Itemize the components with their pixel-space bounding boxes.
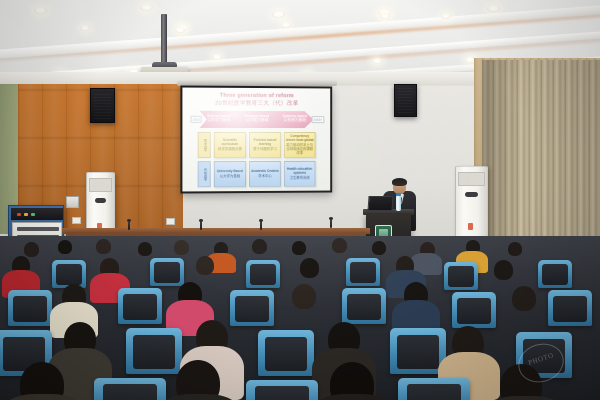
seat-cushion: [154, 262, 180, 283]
matrix-row-institutional: 机构改革 University Based 以大学为基础 Academic Ce…: [198, 161, 316, 188]
audience-head: [138, 242, 152, 256]
seat-cushion: [133, 335, 176, 369]
audience-head: [196, 256, 214, 275]
cell-text-cn: 以大学为基础: [220, 174, 240, 178]
phase-label-cn: 以科学为基础: [200, 118, 238, 123]
auditorium-seat[interactable]: [246, 260, 280, 288]
speaker-grill-icon: [94, 92, 111, 119]
lecture-hall-photo: Three generation of reform 20世纪医学教育三大（代）…: [0, 0, 600, 400]
water-bottle: [396, 196, 401, 211]
wall-outlet: [166, 218, 175, 225]
ceiling-downlight: [140, 4, 153, 11]
audience-head: [292, 241, 306, 255]
audience-head: [58, 240, 72, 254]
presentation-slide: Three generation of reform 20世纪医学教育三大（代）…: [182, 88, 330, 192]
table-microphone-head: [329, 217, 333, 220]
ceiling-downlight: [441, 13, 451, 19]
seat-cushion: [103, 384, 158, 400]
table-microphone-head: [199, 219, 203, 222]
ceiling-downlight: [272, 11, 285, 18]
auditorium-seat[interactable]: [548, 290, 592, 326]
slide-matrix: 教学改革 Scientific curriculum 科学的课程设置 Probl…: [198, 132, 316, 187]
projector-mount-pole: [161, 14, 167, 64]
auditorium-seat[interactable]: [452, 292, 496, 328]
matrix-cell: University Based 以大学为基础: [214, 161, 246, 187]
seat-cushion: [553, 296, 586, 323]
audience-head: [508, 242, 522, 256]
seat-cushion: [250, 264, 276, 285]
auditorium-seat[interactable]: [258, 330, 314, 376]
cell-text-cn: 学术中心: [258, 174, 272, 178]
cell-text-cn: 卫生教育系统: [290, 176, 310, 180]
ac-sticker: [468, 223, 473, 230]
audience-head: [292, 284, 316, 309]
seat-cushion: [457, 298, 490, 325]
wall-control-box: [66, 196, 79, 208]
matrix-cell: Competency driven local global 能力驱动的本土与全…: [284, 132, 316, 158]
seat-cushion: [347, 294, 380, 321]
seat-cushion: [56, 264, 82, 285]
cell-text-cn: 能力驱动的本土与全球相适应的课程改革: [286, 143, 314, 155]
seat-cushion: [255, 386, 310, 400]
auditorium-seat[interactable]: [444, 262, 478, 290]
cell-text-en: Health education systems: [286, 168, 314, 176]
cell-text-cn: 科学的课程设置: [218, 147, 242, 151]
projection-screen: Three generation of reform 20世纪医学教育三大（代）…: [180, 85, 332, 193]
matrix-row-instructional: 教学改革 Scientific curriculum 科学的课程设置 Probl…: [198, 132, 316, 158]
cell-text-en: Scientific curriculum: [216, 139, 244, 147]
cell-text-en: Competency driven local global: [286, 135, 314, 143]
laptop-on-podium: [367, 196, 393, 211]
ac-display-panel: [465, 192, 479, 197]
rack-led-indicator: [31, 213, 35, 216]
seat-cushion: [265, 337, 308, 371]
ceiling-downlight: [212, 54, 222, 60]
seat-cushion: [350, 262, 376, 283]
reform-timeline-arrow: 1900 2000+ Science based 以科学为基础 Problem …: [200, 111, 314, 128]
table-microphone: [200, 221, 202, 230]
ceiling-downlight: [372, 58, 382, 64]
wall-outlet: [72, 217, 81, 224]
seat-cushion: [235, 296, 268, 323]
auditorium-seat[interactable]: [538, 260, 572, 288]
ceiling-downlight: [487, 5, 500, 12]
seat-cushion: [448, 266, 474, 287]
audience-head: [252, 239, 267, 254]
auditorium-seat[interactable]: [398, 378, 470, 400]
speaker-grill-icon: [398, 88, 413, 113]
timeline-phase: Systems based 以系统为基础: [276, 111, 314, 128]
phase-label-cn: 以系统为基础: [276, 118, 314, 123]
row-label: 机构改革: [198, 161, 211, 187]
auditorium-seat[interactable]: [246, 380, 318, 400]
auditorium-seat[interactable]: [126, 328, 182, 374]
table-microphone: [128, 221, 130, 230]
rack-slot: [17, 227, 59, 231]
rack-top-unit: [11, 208, 63, 220]
auditorium-seat[interactable]: [8, 290, 52, 326]
water-bottle-cap: [396, 193, 401, 196]
air-conditioner-right: [455, 166, 488, 246]
audience-head: [500, 364, 542, 400]
wall-speaker-left: [90, 88, 115, 123]
auditorium-seat[interactable]: [230, 290, 274, 326]
auditorium-seat[interactable]: [346, 258, 380, 286]
audience-head: [96, 239, 111, 254]
matrix-cell: Problem based learning 基于问题的学习: [249, 132, 281, 158]
auditorium-seat[interactable]: [150, 258, 184, 286]
ac-display-panel: [95, 198, 107, 203]
table-microphone: [260, 221, 262, 230]
audience-head: [332, 238, 347, 253]
matrix-cell: Academic Centers 学术中心: [249, 161, 281, 187]
timeline-phase: Problem based 以问题为基础: [238, 111, 276, 128]
seat-cushion: [13, 296, 46, 323]
phase-label-cn: 以问题为基础: [238, 118, 276, 123]
ceiling-downlight: [380, 13, 390, 19]
cell-text-cn: 基于问题的学习: [253, 147, 277, 151]
matrix-cell: Scientific curriculum 科学的课程设置: [214, 132, 246, 158]
seat-cushion: [397, 335, 440, 369]
matrix-cell: Health education systems 卫生教育系统: [284, 161, 316, 187]
audience-head: [512, 286, 536, 311]
seat-cushion: [123, 294, 156, 321]
rack-led-indicator: [24, 213, 28, 216]
table-microphone-head: [127, 219, 131, 222]
cell-text-en: Problem based learning: [251, 139, 279, 147]
seat-cushion: [542, 264, 568, 285]
row-label: 教学改革: [198, 132, 211, 158]
auditorium-seat[interactable]: [94, 378, 166, 400]
slide-subtitle: 20世纪医学教育三大（代）改革: [189, 100, 325, 109]
audience-head: [372, 241, 386, 255]
auditorium-seat[interactable]: [118, 288, 162, 324]
audience-head: [174, 240, 189, 255]
wall-speaker-right: [394, 84, 417, 117]
ceiling-downlight: [281, 22, 291, 28]
table-microphone: [330, 219, 332, 228]
audience-head: [494, 260, 513, 280]
ceiling-downlight: [34, 7, 47, 14]
seat-cushion: [407, 384, 462, 400]
audience-head: [24, 242, 39, 257]
presenter-hair: [392, 178, 407, 186]
ac-vent-grill-icon: [458, 172, 484, 186]
rack-led-indicator: [17, 213, 21, 216]
audience-area: [0, 236, 600, 400]
ac-vent-grill-icon: [89, 178, 112, 192]
table-microphone-head: [259, 219, 263, 222]
timeline-phase: Science based 以科学为基础: [200, 111, 238, 128]
ceiling-downlight: [80, 25, 90, 31]
audience-head: [300, 258, 319, 278]
ceiling-downlight: [175, 27, 185, 33]
auditorium-seat[interactable]: [342, 288, 386, 324]
